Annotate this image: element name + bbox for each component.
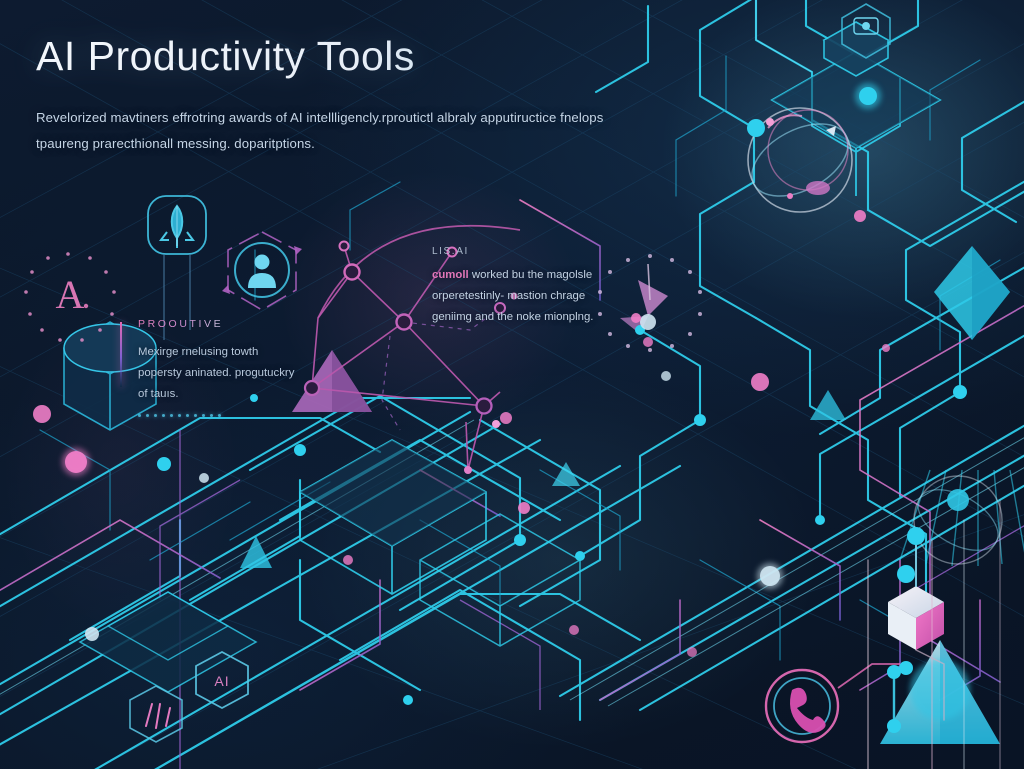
dot <box>162 414 165 417</box>
page-title: AI Productivity Tools <box>36 34 636 79</box>
dot <box>186 414 189 417</box>
callout-mid-tag: LIS.AI <box>432 246 604 257</box>
callout-card-lisai: LIS.AI cumoll worked bu the magolsle orp… <box>432 246 604 328</box>
dot <box>138 414 141 417</box>
dot <box>194 414 197 417</box>
callout-left-kicker: PROOUTIVE <box>138 318 300 330</box>
page-subtitle: Revelorized mavtiners effrotring awards … <box>36 105 616 156</box>
callout-left-body: Mexirge rnelusing towth popersty aninate… <box>138 342 300 405</box>
dot <box>170 414 173 417</box>
dot <box>218 414 221 417</box>
dot <box>178 414 181 417</box>
poster-canvas: A AI <box>0 0 1024 769</box>
hero-block: AI Productivity Tools Revelorized mavtin… <box>36 34 636 157</box>
callout-mid-body: cumoll worked bu the magolsle orperetest… <box>432 265 604 328</box>
dot <box>202 414 205 417</box>
callout-mid-lead: cumoll <box>432 269 469 281</box>
dot <box>146 414 149 417</box>
dot <box>154 414 157 417</box>
callout-left-dot-row <box>138 414 300 417</box>
dot <box>210 414 213 417</box>
callout-card-productive: PROOUTIVE Mexirge rnelusing towth popers… <box>120 318 300 417</box>
